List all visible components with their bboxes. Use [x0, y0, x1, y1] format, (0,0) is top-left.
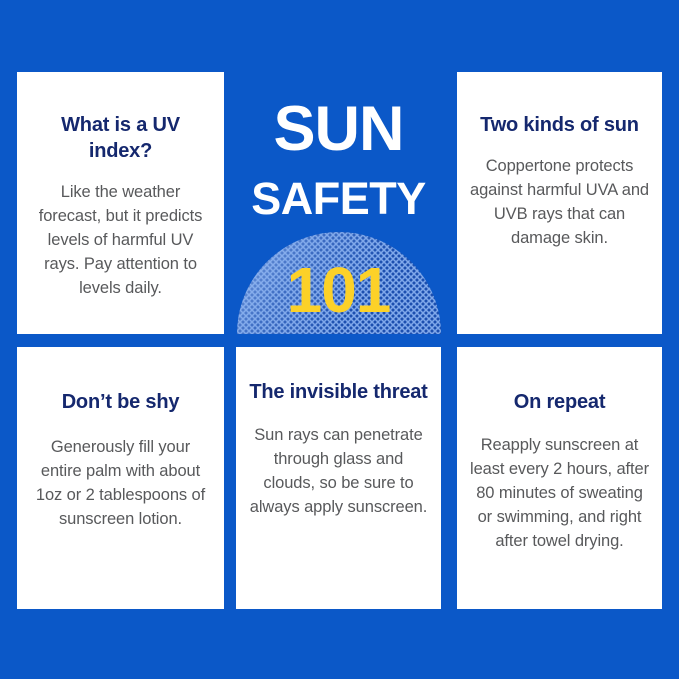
card-two-kinds-title: Two kinds of sun [480, 112, 639, 138]
logo-line-safety: SAFETY [236, 176, 441, 221]
card-two-kinds-body: Coppertone protects against harmful UVA … [469, 154, 650, 250]
logo-line-sun: SUN [236, 98, 441, 161]
logo-line-101: 101 [236, 258, 441, 322]
card-dont-be-shy-body: Generously fill your entire palm with ab… [29, 435, 212, 531]
card-on-repeat: On repeat Reapply sunscreen at least eve… [457, 347, 662, 609]
sun-safety-logo-panel: SUN SAFETY 101 [236, 72, 441, 334]
card-uv-index-body: Like the weather forecast, but it predic… [29, 180, 212, 300]
card-on-repeat-title: On repeat [514, 389, 606, 415]
card-invisible-threat: The invisible threat Sun rays can penetr… [236, 347, 441, 609]
card-two-kinds-of-sun: Two kinds of sun Coppertone protects aga… [457, 72, 662, 334]
card-invisible-threat-title: The invisible threat [249, 379, 427, 405]
sun-safety-infographic: What is a UV index? Like the weather for… [0, 0, 679, 679]
card-invisible-threat-body: Sun rays can penetrate through glass and… [248, 423, 429, 519]
card-uv-index-title: What is a UV index? [29, 112, 212, 164]
card-dont-be-shy-title: Don’t be shy [62, 389, 180, 415]
card-dont-be-shy: Don’t be shy Generously fill your entire… [17, 347, 224, 609]
logo-text-wrap: SUN SAFETY 101 [236, 72, 441, 334]
card-on-repeat-body: Reapply sunscreen at least every 2 hours… [469, 433, 650, 553]
card-uv-index: What is a UV index? Like the weather for… [17, 72, 224, 334]
